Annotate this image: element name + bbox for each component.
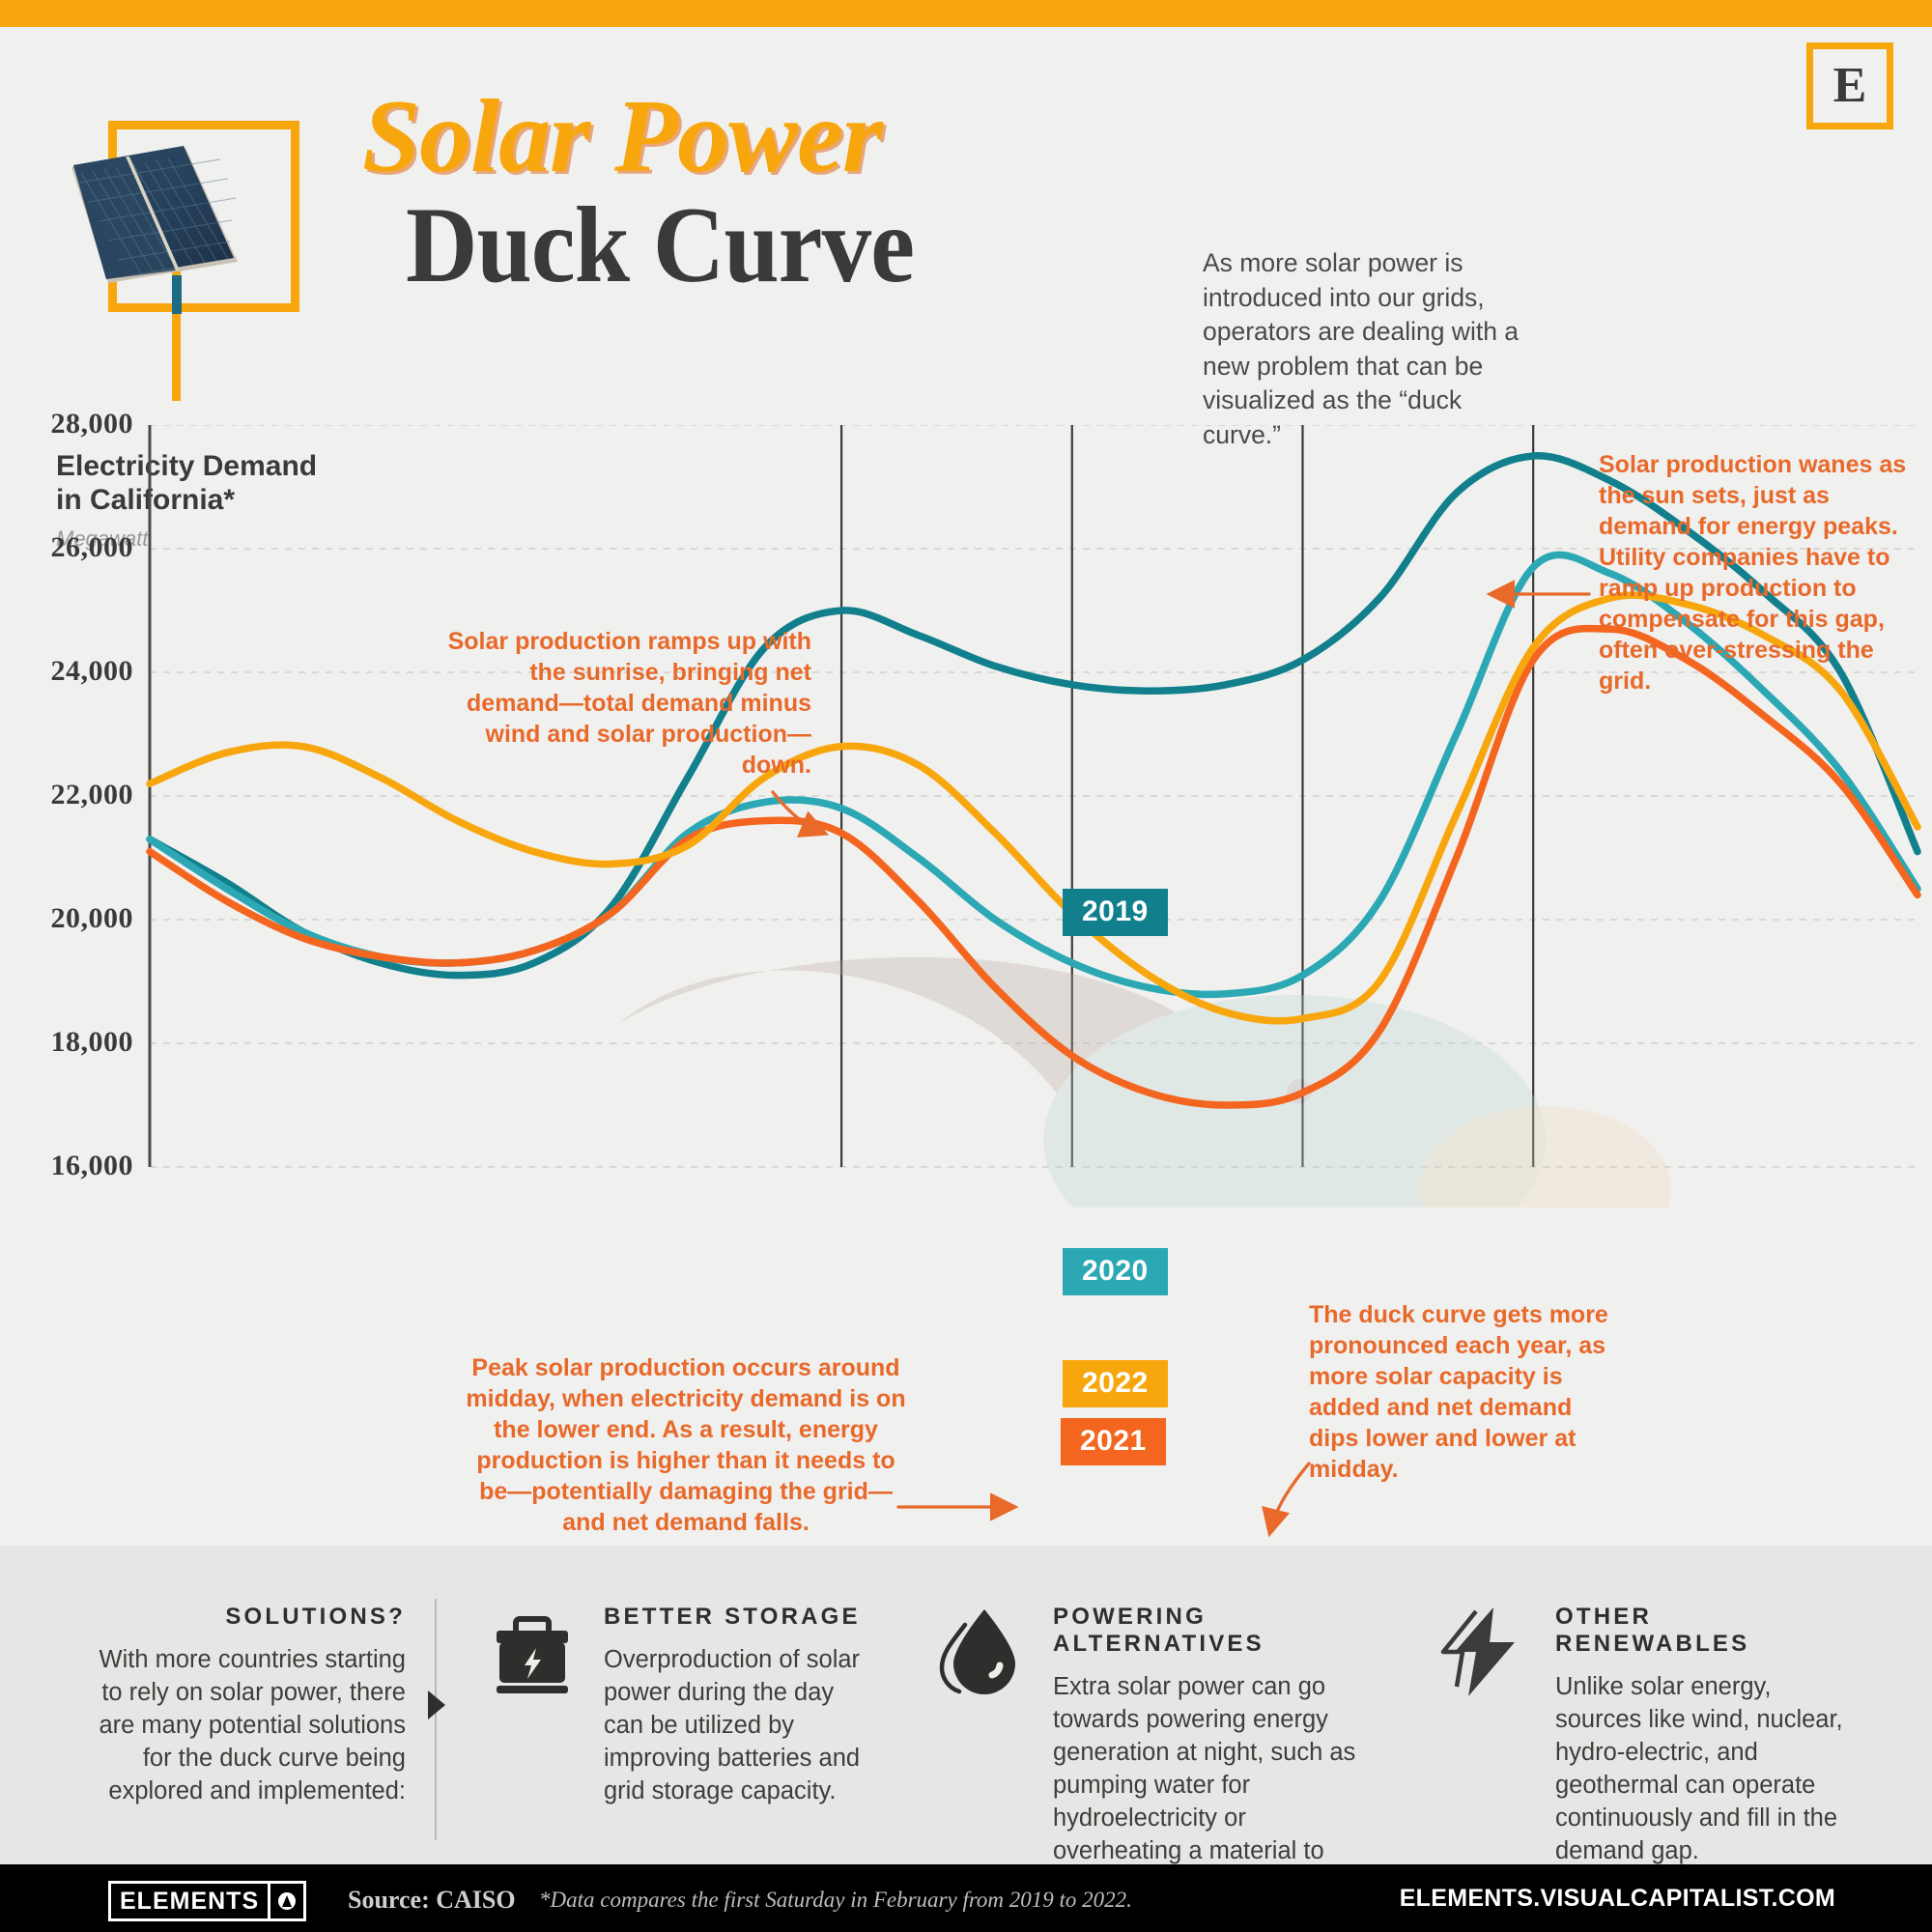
solution-heading: OTHER RENEWABLES [1555,1604,1855,1658]
solution-body: Overproduction of solar power during the… [604,1644,865,1808]
solutions-arrow-icon [428,1690,445,1719]
solutions-divider [435,1599,437,1840]
solutions-intro-heading: SOLUTIONS? [87,1604,406,1631]
elements-logo-badge: E [1806,43,1893,129]
solutions-intro-body: With more countries starting to rely on … [87,1644,406,1808]
top-accent-bar [0,0,1932,27]
solution-powering-alternatives: POWERING ALTERNATIVES Extra solar power … [1053,1604,1372,1900]
series-tag-2022: 2022 [1063,1360,1168,1407]
page-title-line2: Duck Curve [406,184,914,308]
solution-body: Unlike solar energy, sources like wind, … [1555,1671,1855,1867]
battery-icon [488,1615,577,1703]
annotation-ramp-up: Solar production ramps up with the sunri… [444,626,811,781]
footer-source: Source: CAISO [348,1886,516,1915]
solution-other-renewables: OTHER RENEWABLES Unlike solar energy, so… [1555,1604,1855,1867]
footer-logo-box: ELEMENTS [108,1881,306,1921]
lightning-bolt-icon [1437,1604,1530,1705]
page-subtitle: As more solar power is introduced into o… [1203,246,1541,452]
solar-panel-icon [58,92,319,314]
water-drop-icon [932,1604,1025,1703]
solutions-intro: SOLUTIONS? With more countries starting … [87,1604,406,1808]
footer-site-url[interactable]: ELEMENTS.VISUALCAPITALIST.COM [1400,1885,1835,1913]
annotation-pronounced: The duck curve gets more pronounced each… [1309,1299,1628,1485]
solution-heading: POWERING ALTERNATIVES [1053,1604,1372,1658]
solar-panel-illustration [58,92,319,314]
solution-heading: BETTER STORAGE [604,1604,865,1631]
footer-note: *Data compares the first Saturday in Feb… [539,1888,1132,1913]
elements-mark-icon [270,1889,303,1913]
footer-logo-text: ELEMENTS [111,1888,268,1916]
series-tag-2020: 2020 [1063,1248,1168,1295]
page-title-line1: Solar Power [362,77,882,197]
annotation-sun-sets: Solar production wanes as the sun sets, … [1599,449,1908,696]
infographic-root: E [0,0,1932,1932]
footer-logo: ELEMENTS [108,1881,306,1921]
series-tag-2021: 2021 [1061,1418,1166,1465]
series-tag-2019: 2019 [1063,889,1168,936]
solution-better-storage: BETTER STORAGE Overproduction of solar p… [604,1604,865,1808]
annotation-peak-midday: Peak solar production occurs around midd… [464,1352,908,1538]
elements-logo-letter: E [1833,61,1867,111]
